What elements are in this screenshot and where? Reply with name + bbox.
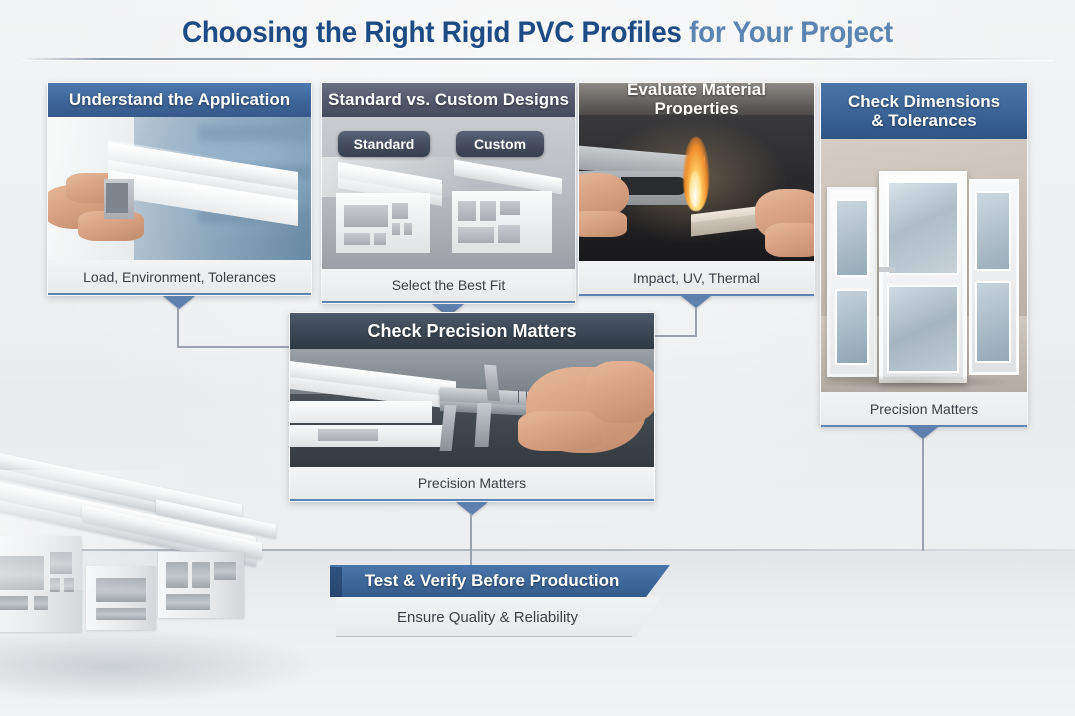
- card-check-dimensions-heading-line2: & Tolerances: [871, 111, 977, 130]
- title-divider-highlight: [22, 60, 1053, 61]
- banner-fold: [330, 567, 342, 597]
- card-check-dimensions-tolerances-caption: Precision Matters: [821, 392, 1027, 427]
- card-understand-application-heading: Understand the Application: [48, 83, 311, 117]
- banner-subtext: Ensure Quality & Reliability: [336, 597, 661, 637]
- connector-evaluate-horizontal: [648, 335, 697, 337]
- card-understand-application-caption: Load, Environment, Tolerances: [48, 260, 311, 295]
- card-understand-application[interactable]: Understand the Application: [47, 82, 312, 296]
- arrow-from-understand-application: [163, 296, 195, 309]
- label-custom: Custom: [456, 131, 544, 157]
- page-title: Choosing the Right Rigid PVC Profiles fo…: [38, 16, 1038, 50]
- label-standard: Standard: [338, 131, 430, 157]
- card-check-precision-matters-heading: Check Precision Matters: [290, 313, 654, 349]
- connector-understand-application-horizontal: [177, 346, 307, 348]
- card-check-precision-matters[interactable]: Check Precision Matters: [289, 312, 655, 502]
- background-pvc-profiles-photo: [0, 470, 346, 716]
- connector-check-dimensions-vertical: [922, 438, 924, 551]
- card-standard-vs-custom-heading: Standard vs. Custom Designs: [322, 83, 575, 117]
- card-check-dimensions-tolerances-heading: Check Dimensions & Tolerances: [821, 83, 1027, 139]
- connector-evaluate-vertical: [695, 307, 697, 337]
- infographic-canvas: Choosing the Right Rigid PVC Profiles fo…: [0, 0, 1075, 716]
- card-check-dimensions-heading-line1: Check Dimensions: [848, 92, 1000, 111]
- card-standard-vs-custom[interactable]: Standard vs. Custom Designs: [321, 82, 576, 304]
- card-check-dimensions-tolerances[interactable]: Check Dimensions & Tolerances: [820, 82, 1028, 426]
- card-standard-vs-custom-caption: Select the Best Fit: [322, 269, 575, 303]
- page-title-secondary: for Your Project: [682, 16, 893, 49]
- card-evaluate-material-properties-heading: Evaluate Material Properties: [579, 83, 814, 115]
- card-evaluate-material-properties-caption: Impact, UV, Thermal: [579, 261, 814, 296]
- connector-check-precision-vertical: [470, 514, 472, 566]
- card-check-precision-matters-photo: [290, 349, 654, 467]
- card-standard-vs-custom-photo: Standard Custom: [322, 117, 575, 269]
- card-check-precision-matters-caption: Precision Matters: [290, 467, 654, 501]
- connector-understand-application-vertical: [177, 308, 179, 348]
- card-check-dimensions-tolerances-photo: [821, 139, 1027, 392]
- arrow-from-check-precision-matters: [456, 502, 488, 515]
- banner-heading: Test & Verify Before Production: [330, 565, 670, 597]
- page-title-primary: Choosing the Right Rigid PVC Profiles: [182, 16, 682, 49]
- banner-underline: [336, 636, 632, 637]
- card-evaluate-material-properties[interactable]: Evaluate Material Properties: [578, 82, 815, 295]
- card-understand-application-photo: [48, 117, 311, 260]
- banner-test-and-verify[interactable]: Test & Verify Before Production Ensure Q…: [330, 565, 720, 645]
- card-evaluate-material-properties-photo: [579, 115, 814, 261]
